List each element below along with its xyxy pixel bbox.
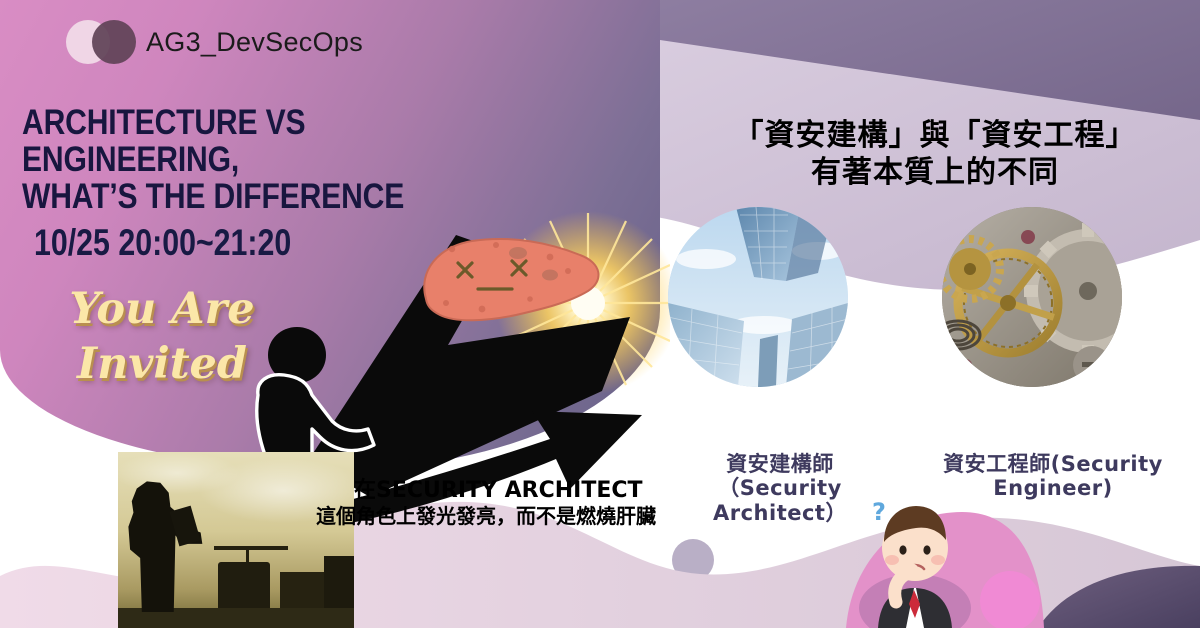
confused-businessman-icon	[856, 492, 974, 628]
caption-security-architect: 資安建構師 （Security Architect）	[690, 452, 870, 525]
skyscrapers-art	[668, 207, 848, 387]
chinese-headline-line-2: 有著本質上的不同	[700, 155, 1170, 192]
center-note-line-2: 這個角色上發光發亮，而不是燃燒肝臟	[316, 504, 716, 528]
chinese-headline: 「資安建構」與「資安工程」 有著本質上的不同	[700, 118, 1170, 191]
skyscrapers-photo	[668, 207, 848, 387]
gears-photo	[942, 207, 1122, 387]
building-shape-1	[218, 562, 270, 608]
poster-canvas: AG3_DevSecOps Architecture vs Engineerin…	[0, 0, 1200, 628]
caption-architect-line-1: 資安建構師	[726, 452, 834, 476]
brand-name: AG3_DevSecOps	[146, 27, 363, 58]
headline-line-1: Architecture vs Engineering,	[22, 103, 305, 179]
caption-architect-line-3: Architect）	[713, 501, 847, 525]
building-shape-2	[280, 572, 326, 608]
venn-circles-icon	[66, 18, 152, 66]
crane-arm-shape	[214, 546, 288, 550]
brand-logo: AG3_DevSecOps	[66, 18, 363, 66]
invited-line-1: You Are	[69, 284, 254, 334]
caption-engineer-line-2: Engineer)	[993, 476, 1112, 500]
caption-engineer-line-1: 資安工程師(Security	[943, 452, 1163, 476]
page-title: Architecture vs Engineering, What’s the …	[22, 104, 469, 215]
center-note-text: 在SECURITY ARCHITECT 這個角色上發光發亮，而不是燃燒肝臟	[316, 478, 716, 528]
clockwork-gears-art	[942, 207, 1122, 387]
chinese-headline-line-1: 「資安建構」與「資安工程」	[734, 118, 1137, 153]
screw-detail	[1073, 346, 1111, 384]
building-shape-3	[324, 556, 354, 608]
caption-architect-line-2: （Security	[718, 476, 842, 500]
center-note-line-1: 在SECURITY ARCHITECT	[316, 478, 716, 504]
logo-circle-dark	[92, 20, 136, 64]
